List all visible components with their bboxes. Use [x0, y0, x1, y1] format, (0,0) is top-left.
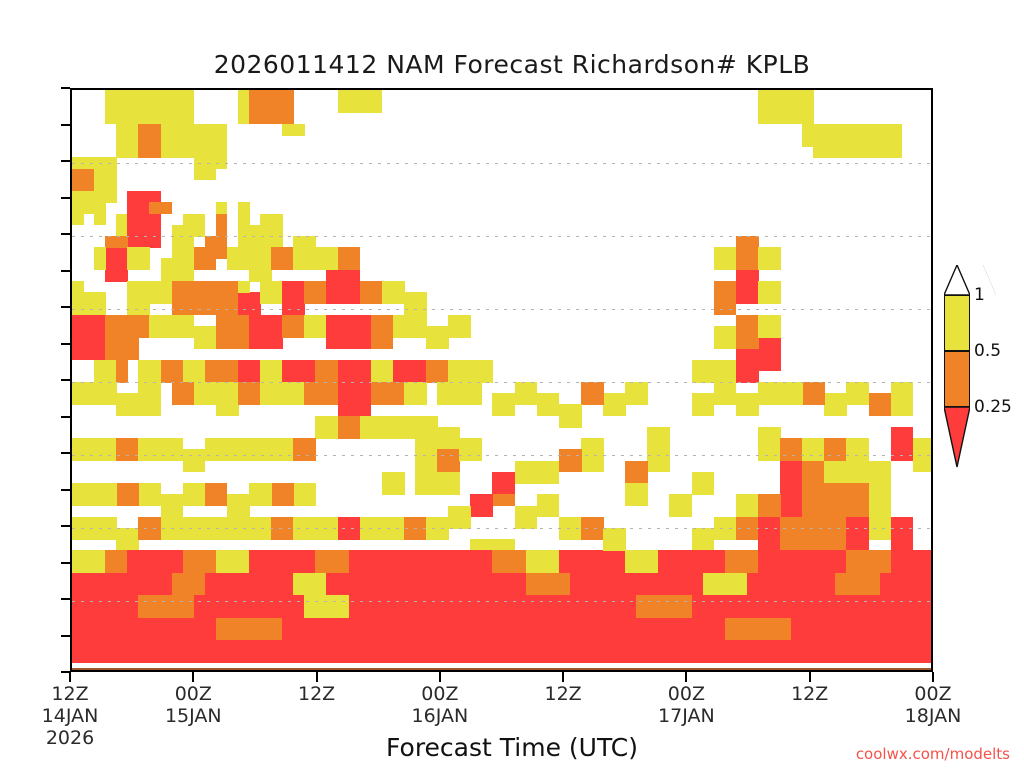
heatmap-cell [526, 550, 560, 573]
heatmap-cell [260, 214, 283, 248]
heatmap-cell [559, 449, 582, 472]
heatmap-cell [304, 595, 349, 618]
heatmap-cell [835, 483, 869, 517]
colorbar-tick-label: 1 [974, 285, 985, 305]
x-axis-tick-label: 00Z15JAN [165, 683, 222, 727]
heatmap-cell [581, 438, 604, 472]
heatmap-cell [360, 281, 383, 304]
heatmap-cell [813, 517, 847, 551]
heatmap-cell [116, 124, 139, 158]
heatmap-cell [891, 427, 914, 461]
heatmap-cell [172, 573, 206, 596]
heatmap-cell [692, 595, 748, 618]
heatmap-cell [437, 427, 460, 450]
heatmap-cell [116, 393, 139, 416]
heatmap-cell [238, 292, 261, 315]
colorbar-cap-upper-outline [944, 265, 970, 296]
heatmap-cell [72, 315, 106, 361]
heatmap-cell [758, 382, 781, 405]
heatmap-cell [105, 236, 128, 248]
heatmap-cell [869, 517, 892, 540]
richardson-number-colorbar: 10.50.25 [944, 295, 970, 455]
heatmap-cell [481, 573, 526, 596]
heatmap-cell [426, 360, 449, 383]
heatmap-cell [205, 483, 228, 506]
heatmap-cell [72, 573, 128, 596]
heatmap-cell [647, 449, 670, 472]
y-axis-tick-mark [61, 635, 70, 637]
heatmap-cell [714, 326, 737, 349]
heatmap-cell [692, 472, 715, 495]
heatmap-cell [138, 595, 194, 618]
heatmap-cell [72, 191, 84, 225]
heatmap-cell [780, 483, 803, 517]
heatmap-cell [736, 270, 759, 304]
y-axis-tick-mark [61, 562, 70, 564]
heatmap-cell [869, 393, 892, 416]
heatmap-cell [515, 640, 626, 663]
heatmap-cell [227, 247, 250, 270]
heatmap-cell [282, 124, 305, 136]
heatmap-cell [227, 517, 250, 540]
heatmap-cell [415, 416, 438, 439]
heatmap-cell [559, 517, 582, 540]
heatmap-cell [758, 281, 781, 304]
heatmap-cell [326, 315, 371, 349]
heatmap-cell [94, 438, 117, 461]
x-tick-date: 18JAN [905, 705, 962, 727]
heatmap-cell [271, 247, 294, 270]
heatmap-cell [271, 483, 294, 506]
heatmap-cell [282, 550, 316, 573]
heatmap-cell [692, 393, 715, 416]
heatmap-cell [592, 550, 626, 573]
colorbar-tick-label: 0.25 [974, 397, 1012, 417]
heatmap-cell [271, 517, 294, 540]
heatmap-cell [492, 550, 526, 573]
heatmap-cell [315, 550, 349, 573]
heatmap-cell [714, 382, 737, 405]
y-axis-tick-mark [61, 233, 70, 235]
heatmap-cell [703, 573, 748, 596]
heatmap-cell [116, 360, 128, 383]
heatmap-cell [504, 618, 571, 641]
heatmap-cell [127, 247, 150, 270]
heatmap-cell [802, 483, 836, 517]
heatmap-cell [692, 360, 715, 383]
heatmap-cell [238, 202, 250, 225]
heatmap-cell [149, 315, 172, 338]
heatmap-cell [537, 461, 560, 484]
heatmap-cell [758, 494, 781, 517]
heatmap-cell [238, 236, 261, 248]
heatmap-cell [161, 360, 184, 383]
heatmap-cell [138, 517, 161, 540]
y-axis-tick-mark [61, 124, 70, 126]
x-tick-date: 15JAN [165, 705, 222, 727]
heatmap-cell [426, 550, 460, 573]
heatmap-cell [515, 382, 538, 405]
heatmap-cell [238, 281, 250, 293]
heatmap-cell [183, 214, 206, 237]
y-axis-tick-mark [61, 379, 70, 381]
heatmap-cell [382, 281, 405, 304]
heatmap-cell [293, 438, 316, 461]
x-axis-tick-mark [932, 672, 934, 682]
heatmap-cell [194, 326, 217, 349]
heatmap-cell [72, 640, 183, 663]
x-tick-time: 00Z [165, 683, 222, 705]
heatmap-cell [127, 281, 150, 315]
heatmap-cell [459, 550, 493, 573]
heatmap-cell [404, 595, 471, 618]
forecast-timeseries-chart: 2026011412 NAM Forecast Richardson# KPLB… [0, 0, 1024, 768]
heatmap-cell [293, 640, 404, 663]
y-axis-tick-mark [61, 270, 70, 272]
heatmap-cell [846, 550, 891, 573]
heatmap-cell [238, 360, 261, 383]
heatmap-cell [127, 191, 161, 203]
heatmap-cell [216, 618, 283, 641]
heatmap-cell [736, 517, 759, 540]
heatmap-cell [526, 595, 582, 618]
heatmap-cell [570, 618, 648, 641]
heatmap-cell [315, 247, 338, 270]
heatmap-cell [603, 528, 626, 551]
y-axis-tick-mark [61, 598, 70, 600]
heatmap-cell [393, 315, 427, 338]
heatmap-cell [747, 573, 792, 596]
heatmap-cell [581, 517, 604, 540]
heatmap-cell [172, 315, 195, 338]
heatmap-cell [338, 517, 361, 540]
heatmap-cell [338, 90, 383, 113]
heatmap-cell [824, 438, 847, 461]
heatmap-cell [315, 416, 338, 439]
heatmap-cell [94, 202, 106, 225]
heatmap-cell [249, 573, 294, 596]
heatmap-cell [581, 382, 604, 405]
heatmap-cell [282, 618, 349, 641]
heatmap-cell [349, 618, 427, 641]
x-tick-time: 12Z [791, 683, 828, 705]
heatmap-cell [194, 157, 228, 169]
heatmap-cell [116, 483, 139, 506]
heatmap-cell [149, 618, 216, 641]
heatmap-cell [149, 202, 172, 214]
heatmap-cell [138, 360, 161, 383]
heatmap-cell [83, 292, 106, 315]
heatmap-cell [94, 247, 106, 270]
heatmap-cell [692, 550, 726, 573]
heatmap-cell [249, 595, 305, 618]
heatmap-cell [891, 550, 933, 573]
heatmap-cell [371, 360, 394, 383]
heatmap-cell [791, 618, 869, 641]
heatmap-cell [492, 393, 515, 416]
x-tick-date: 16JAN [412, 705, 469, 727]
heatmap-cell [138, 382, 161, 416]
heatmap-cell [315, 517, 338, 540]
heatmap-cell [194, 595, 250, 618]
heatmap-cell [260, 382, 283, 405]
heatmap-cell [758, 427, 781, 461]
heatmap-cell [725, 618, 792, 641]
heatmap-cell [647, 618, 725, 641]
heatmap-cell [249, 483, 272, 506]
heatmap-cell [758, 315, 781, 338]
heatmap-cell [227, 494, 250, 517]
heatmap-cell [205, 281, 239, 315]
y-axis-tick-mark [61, 525, 70, 527]
heatmap-cell [625, 461, 648, 484]
heatmap-cell [714, 517, 737, 540]
heatmap-cell [669, 494, 692, 517]
heatmap-cell [891, 382, 914, 416]
heatmap-cell [570, 573, 615, 596]
heatmap-cell [293, 573, 327, 596]
heatmap-cell [249, 247, 272, 281]
heatmap-cell [880, 573, 933, 596]
heatmap-cell [315, 360, 338, 383]
heatmap-cell [470, 360, 493, 383]
heatmap-cell [72, 550, 106, 573]
heatmap-cell [780, 382, 803, 405]
heatmap-cell [791, 573, 836, 596]
heatmap-cell [559, 404, 582, 427]
heatmap-cells [72, 90, 931, 670]
heatmap-cell [581, 595, 637, 618]
heatmap-cell [459, 438, 482, 461]
colorbar-tick-label: 0.5 [974, 341, 1001, 361]
heatmap-cell [172, 382, 195, 405]
x-axis-tick-label: 12Z [544, 683, 581, 705]
heatmap-cell [205, 438, 228, 461]
heatmap-cell [72, 438, 95, 461]
heatmap-cell [293, 517, 316, 540]
heatmap-cell [304, 382, 338, 405]
heatmap-cell [161, 438, 184, 461]
heatmap-cell [415, 472, 438, 495]
heatmap-cell [72, 517, 95, 540]
heatmap-cell [371, 315, 394, 349]
y-axis-tick-mark [61, 197, 70, 199]
x-tick-time: 12Z [298, 683, 335, 705]
heatmap-cell [349, 550, 383, 573]
heatmap-cell [526, 573, 571, 596]
heatmap-cell [658, 550, 692, 573]
x-tick-time: 12Z [544, 683, 581, 705]
heatmap-cell [360, 517, 383, 540]
heatmap-cell [869, 618, 933, 641]
heatmap-cell [127, 573, 172, 596]
heatmap-cell [72, 618, 150, 641]
heatmap-cell [304, 315, 327, 338]
heatmap-cell [94, 360, 117, 383]
heatmap-cell [72, 169, 84, 192]
heatmap-cell [271, 438, 294, 461]
x-tick-date: 14JAN [42, 705, 99, 727]
heatmap-cell [515, 506, 538, 529]
heatmap-cell [714, 281, 737, 315]
heatmap-cell [537, 494, 560, 517]
x-tick-time: 00Z [905, 683, 962, 705]
heatmap-cell [183, 517, 206, 540]
heatmap-cell [382, 550, 427, 573]
heatmap-cell [238, 382, 261, 405]
heatmap-cell [404, 382, 427, 405]
heatmap-cell [183, 640, 294, 663]
heatmap-cell [304, 281, 327, 304]
heatmap-cell [205, 236, 228, 259]
x-axis-tick-mark [809, 672, 811, 682]
heatmap-cell [282, 360, 316, 383]
heatmap-cell [758, 90, 814, 124]
heatmap-cell [161, 494, 184, 517]
heatmap-cell [736, 315, 759, 349]
heatmap-cell [824, 393, 847, 416]
heatmap-cell [138, 483, 161, 506]
heatmap-cell [747, 595, 803, 618]
heatmap-cell [448, 506, 471, 529]
heatmap-cell [636, 595, 692, 618]
heatmap-cell [846, 124, 858, 136]
heatmap-cell [172, 247, 195, 259]
heatmap-cell [625, 382, 648, 405]
heatmap-cell [349, 595, 405, 618]
x-axis-tick-mark [192, 672, 194, 682]
heatmap-cell [426, 517, 449, 540]
heatmap-cell [216, 550, 250, 573]
heatmap-cell [249, 550, 283, 573]
heatmap-cell [360, 416, 394, 439]
y-axis-tick-mark [61, 452, 70, 454]
heatmap-cell [282, 281, 305, 315]
heatmap-cell [658, 573, 703, 596]
heatmap-cell [161, 517, 184, 540]
plot-area [70, 88, 933, 672]
heatmap-cell [72, 382, 95, 405]
heatmap-cell [161, 124, 228, 158]
heatmap-cell [714, 247, 737, 270]
x-tick-time: 00Z [412, 683, 469, 705]
heatmap-cell [105, 247, 128, 281]
heatmap-cell [736, 348, 759, 382]
heatmap-cell [802, 124, 814, 147]
heatmap-cell [127, 550, 150, 573]
x-tick-time: 00Z [658, 683, 715, 705]
heatmap-cell [625, 640, 736, 663]
heatmap-cell [846, 517, 869, 551]
heatmap-cell [835, 573, 880, 596]
heatmap-cell [448, 360, 471, 383]
heatmap-cell [802, 461, 825, 484]
heatmap-cell [205, 573, 250, 596]
heatmap-cell [559, 550, 593, 573]
heatmap-cell [183, 483, 206, 506]
heatmap-cell [161, 258, 195, 281]
heatmap-cell [437, 382, 460, 405]
heatmap-cell [869, 483, 892, 517]
heatmap-cell [404, 640, 515, 663]
heatmap-cell [116, 438, 139, 461]
x-axis-tick-mark [685, 672, 687, 682]
heatmap-cell [714, 360, 737, 383]
heatmap-cell [338, 382, 372, 416]
heatmap-cell [802, 595, 869, 618]
heatmap-cell [758, 337, 781, 371]
heatmap-cell [603, 393, 626, 416]
chart-title: 2026011412 NAM Forecast Richardson# KPLB [0, 50, 1024, 79]
heatmap-cell [913, 438, 933, 472]
x-axis-tick-mark [316, 672, 318, 682]
heatmap-cell [459, 382, 482, 405]
x-axis-tick-mark [562, 672, 564, 682]
heatmap-cell [249, 438, 272, 461]
heatmap-cell [426, 326, 449, 349]
heatmap-cell [470, 494, 493, 517]
heatmap-cell [736, 393, 759, 416]
x-axis-tick-label: 12Z [298, 683, 335, 705]
heatmap-cell [537, 393, 560, 416]
x-tick-time: 12Z [42, 683, 99, 705]
heatmap-cell [780, 438, 803, 461]
x-axis-tick-label: 12Z [791, 683, 828, 705]
heatmap-cell [282, 315, 305, 338]
y-axis-tick-mark [61, 160, 70, 162]
heatmap-cell [216, 202, 228, 214]
ground-surface [72, 668, 931, 670]
heatmap-cell [72, 483, 95, 506]
heatmap-cell [94, 517, 117, 540]
heatmap-cell [105, 337, 139, 360]
heatmap-cell [105, 550, 128, 573]
heatmap-cell [426, 573, 482, 596]
heatmap-cell [249, 517, 272, 540]
heatmap-cell [183, 360, 206, 383]
x-tick-date: 17JAN [658, 705, 715, 727]
x-axis-tick-mark [69, 672, 71, 682]
heatmap-cell [282, 382, 305, 405]
heatmap-cell [183, 550, 217, 573]
heatmap-cell [404, 292, 427, 315]
heatmap-cell [216, 382, 239, 416]
heatmap-cell [105, 90, 194, 124]
heatmap-cell [94, 483, 117, 506]
heatmap-cell [338, 247, 361, 270]
heatmap-cell [758, 247, 781, 270]
heatmap-cell [736, 494, 759, 517]
colorbar-cap-lower [944, 407, 970, 469]
heatmap-cell [72, 281, 84, 315]
heatmap-cell [371, 573, 427, 596]
x-axis-tick-label: 00Z18JAN [905, 683, 962, 727]
y-axis-tick-mark [61, 306, 70, 308]
heatmap-cell [138, 124, 161, 158]
heatmap-cell [614, 573, 659, 596]
heatmap-cell [625, 550, 659, 573]
heatmap-cell [194, 382, 217, 405]
heatmap-cell [293, 483, 316, 506]
heatmap-cell [725, 550, 759, 573]
heatmap-cell [183, 449, 206, 472]
heatmap-cell [227, 438, 250, 461]
heatmap-cell [382, 517, 405, 540]
y-axis-tick-mark [61, 416, 70, 418]
heatmap-cell [736, 236, 759, 270]
heatmap-cell [647, 427, 670, 450]
heatmap-cell [293, 236, 316, 270]
